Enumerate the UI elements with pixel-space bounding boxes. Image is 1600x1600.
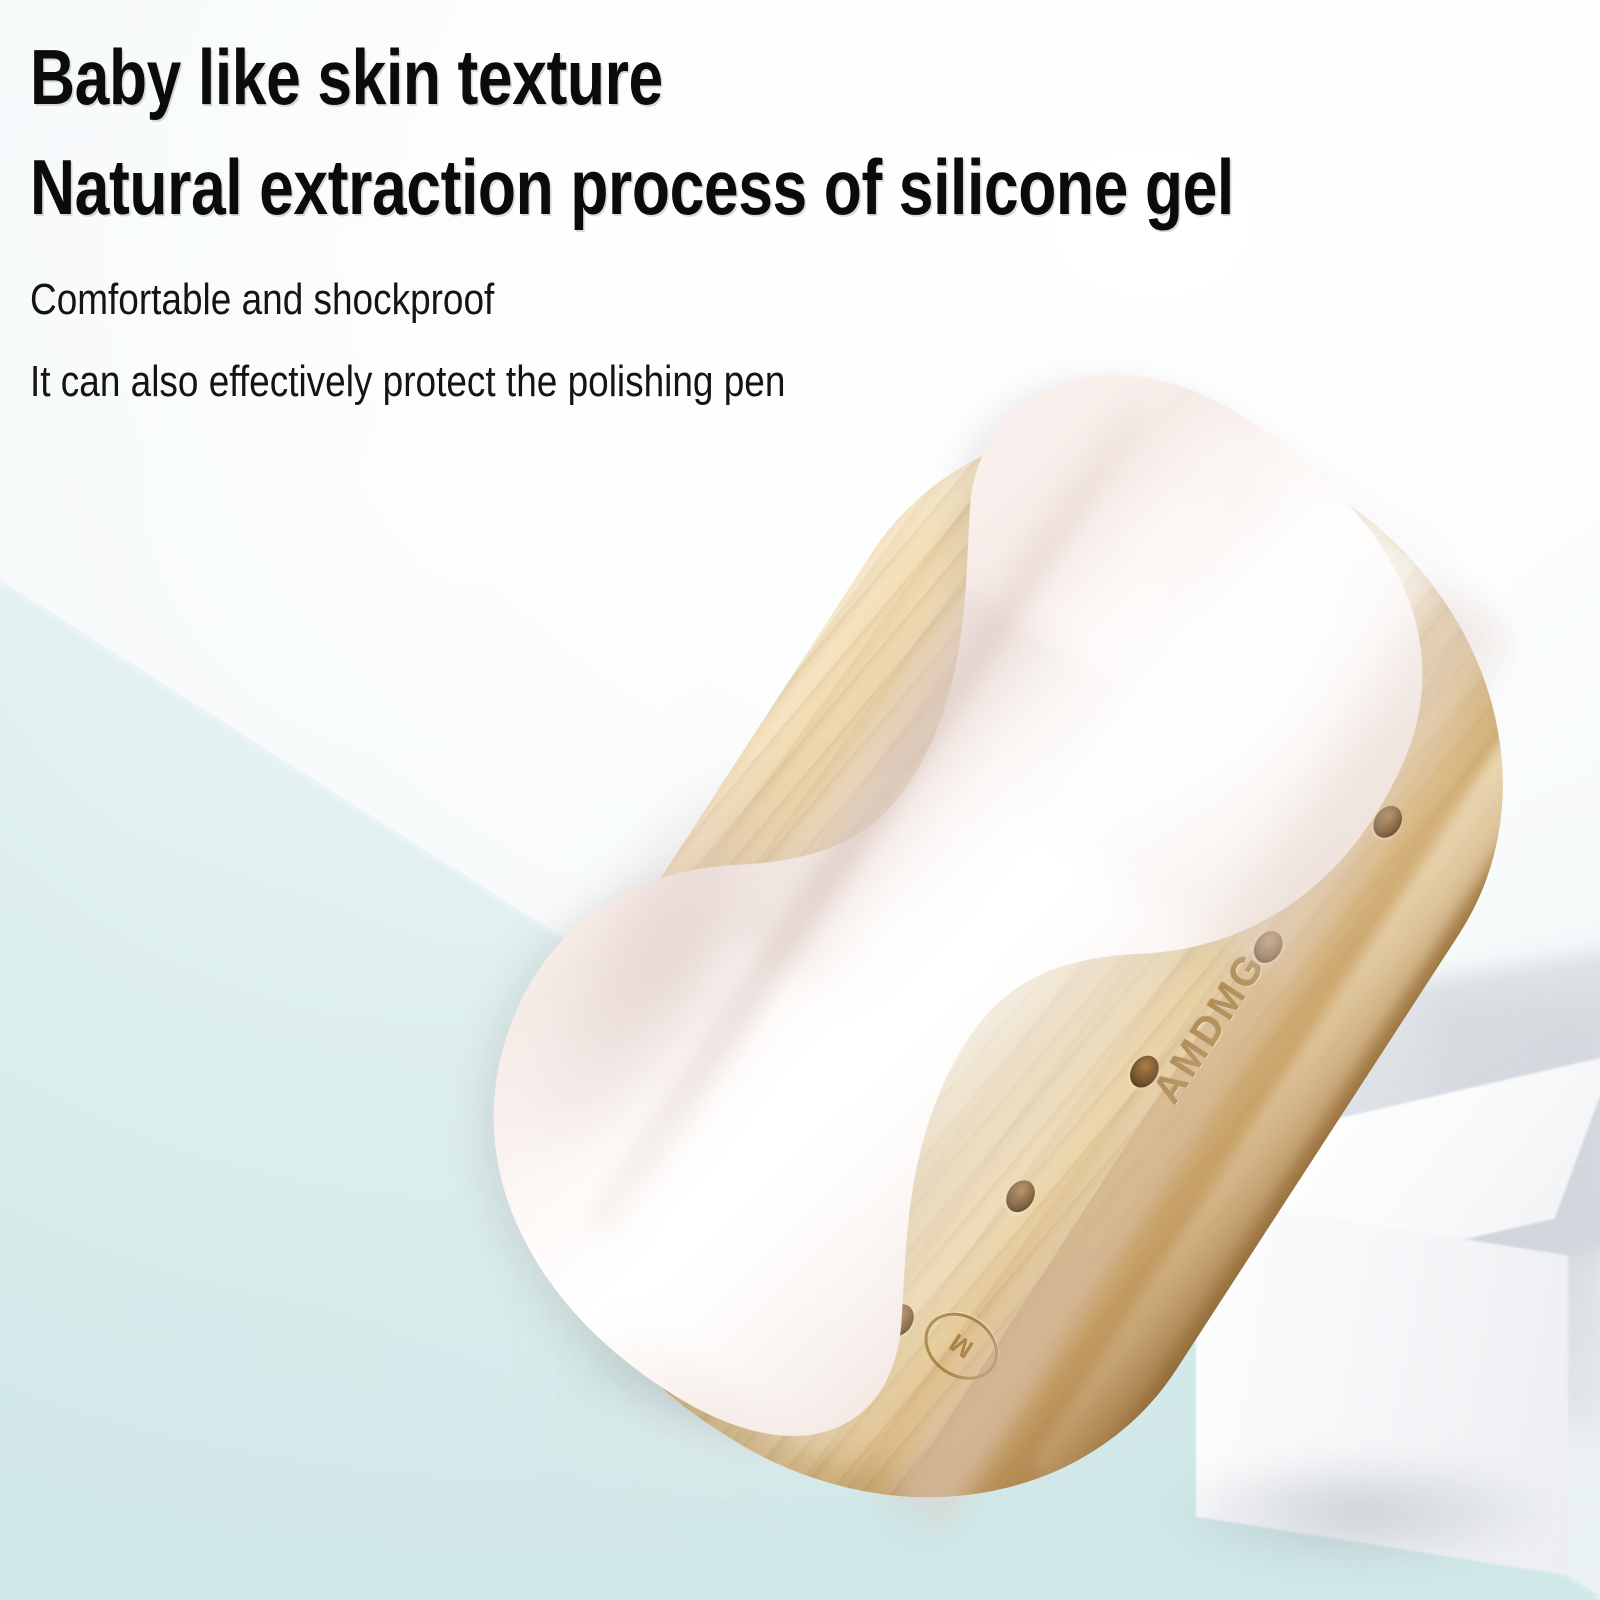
subtitle-line-1: Comfortable and shockproof xyxy=(30,278,1122,322)
product-image: AMDMG M xyxy=(520,355,1530,1595)
headline-line-1: Baby like skin texture xyxy=(30,38,1070,116)
headline-line-2: Natural extraction process of silicone g… xyxy=(30,148,1070,226)
subtitle-line-2: It can also effectively protect the poli… xyxy=(30,360,1122,404)
copy-block: Baby like skin texture Natural extractio… xyxy=(30,24,1330,404)
product-marketing-banner: AMDMG M Baby like skin texture Natural e… xyxy=(0,0,1600,1600)
